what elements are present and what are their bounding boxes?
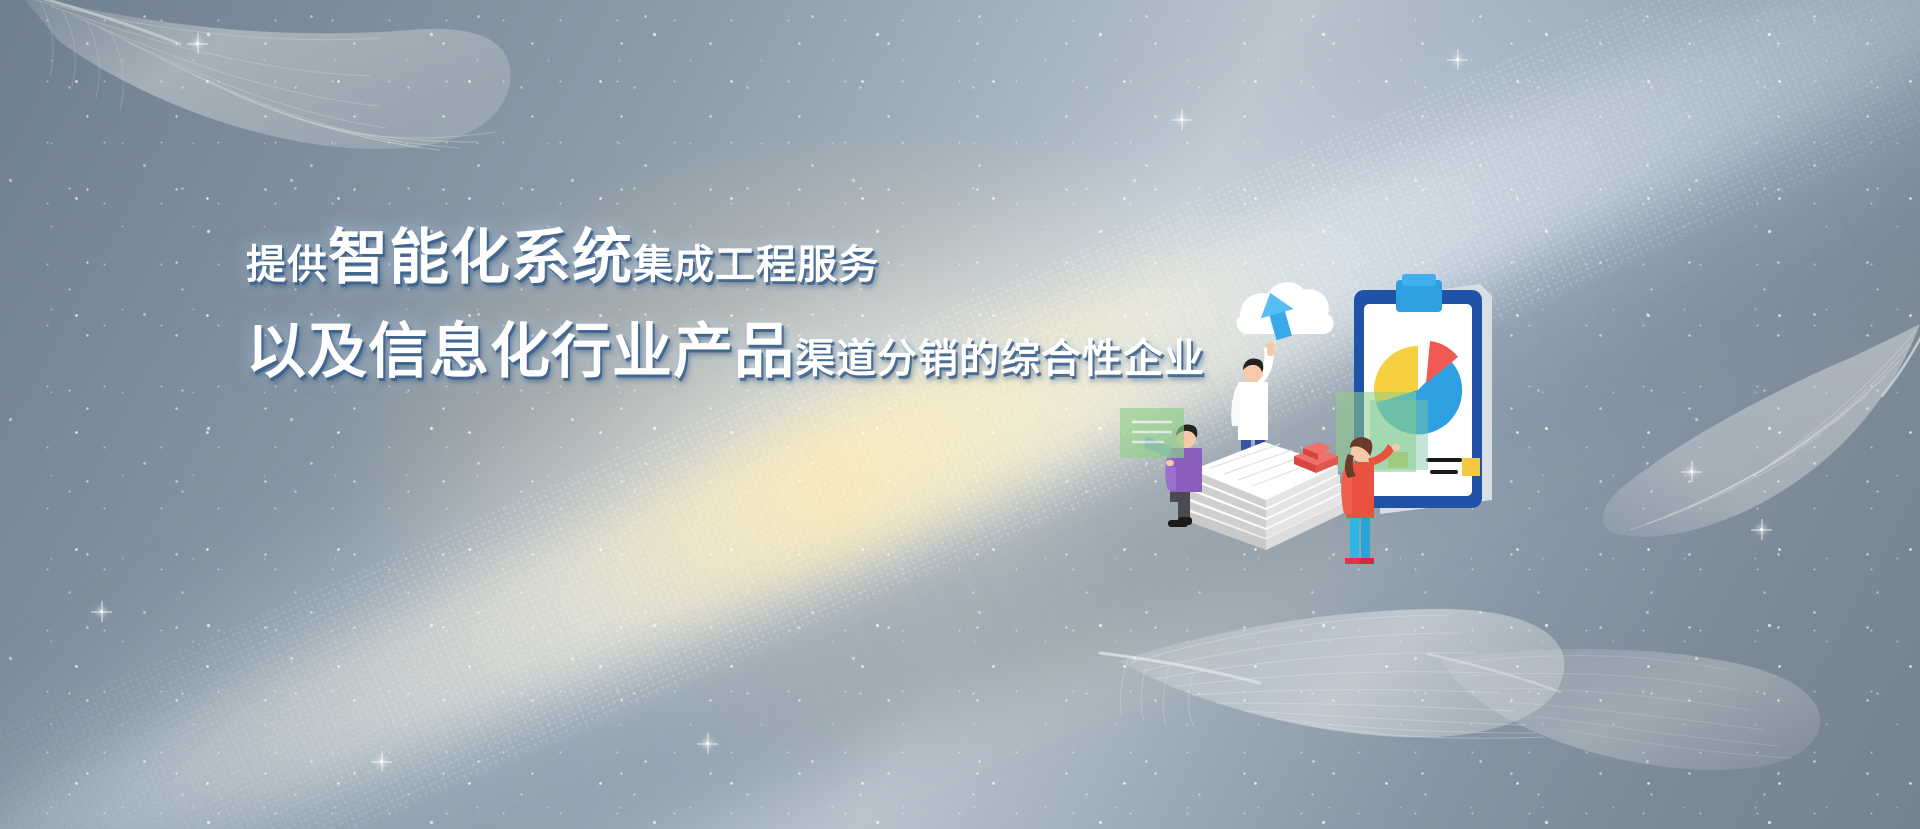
- galaxy-star-speckle: [0, 0, 1920, 829]
- galaxy-band: [0, 0, 1920, 829]
- feather-bottom-center: [1070, 575, 1590, 805]
- bright-star: [1690, 470, 1693, 473]
- galaxy-core-glow: [0, 0, 1920, 829]
- headline-line-1: 提供智能化系统集成工程服务: [246, 228, 1266, 288]
- feather-top-left: [10, 0, 530, 222]
- sticky-note-b: [1462, 458, 1480, 476]
- headline-line1-prefix: 提供: [246, 245, 328, 285]
- headline-line-2: 以及信息化行业产品渠道分销的综合性企业: [246, 322, 1266, 382]
- bright-star: [196, 42, 199, 45]
- feather-right: [1600, 318, 1920, 598]
- clipboard-clip: [1396, 274, 1442, 312]
- headline-line2-emphasis: 以及信息化行业产品: [246, 322, 795, 382]
- starfield-near: [0, 0, 1920, 829]
- starfield-layer: [0, 0, 1920, 829]
- feather-bottom-right: [1420, 620, 1840, 829]
- bright-star: [1760, 528, 1763, 531]
- bright-star: [1456, 58, 1459, 61]
- galaxy-dust-lane: [0, 0, 1920, 829]
- headline-line1-emphasis: 智能化系统: [328, 228, 633, 288]
- hero-banner: 提供智能化系统集成工程服务 以及信息化行业产品渠道分销的综合性企业: [0, 0, 1920, 829]
- bright-star: [1180, 118, 1183, 121]
- bright-star: [706, 742, 709, 745]
- headline-block: 提供智能化系统集成工程服务 以及信息化行业产品渠道分销的综合性企业: [246, 228, 1266, 382]
- headline-line2-suffix: 渠道分销的综合性企业: [795, 339, 1205, 379]
- starfield-far: [0, 0, 1920, 829]
- galaxy-dust-outer: [0, 0, 1920, 829]
- green-panel-left: [1120, 408, 1184, 458]
- bright-star: [100, 610, 103, 613]
- galaxy-dust-inner: [0, 0, 1920, 829]
- bright-star: [380, 760, 383, 763]
- headline-line1-suffix: 集成工程服务: [633, 245, 879, 285]
